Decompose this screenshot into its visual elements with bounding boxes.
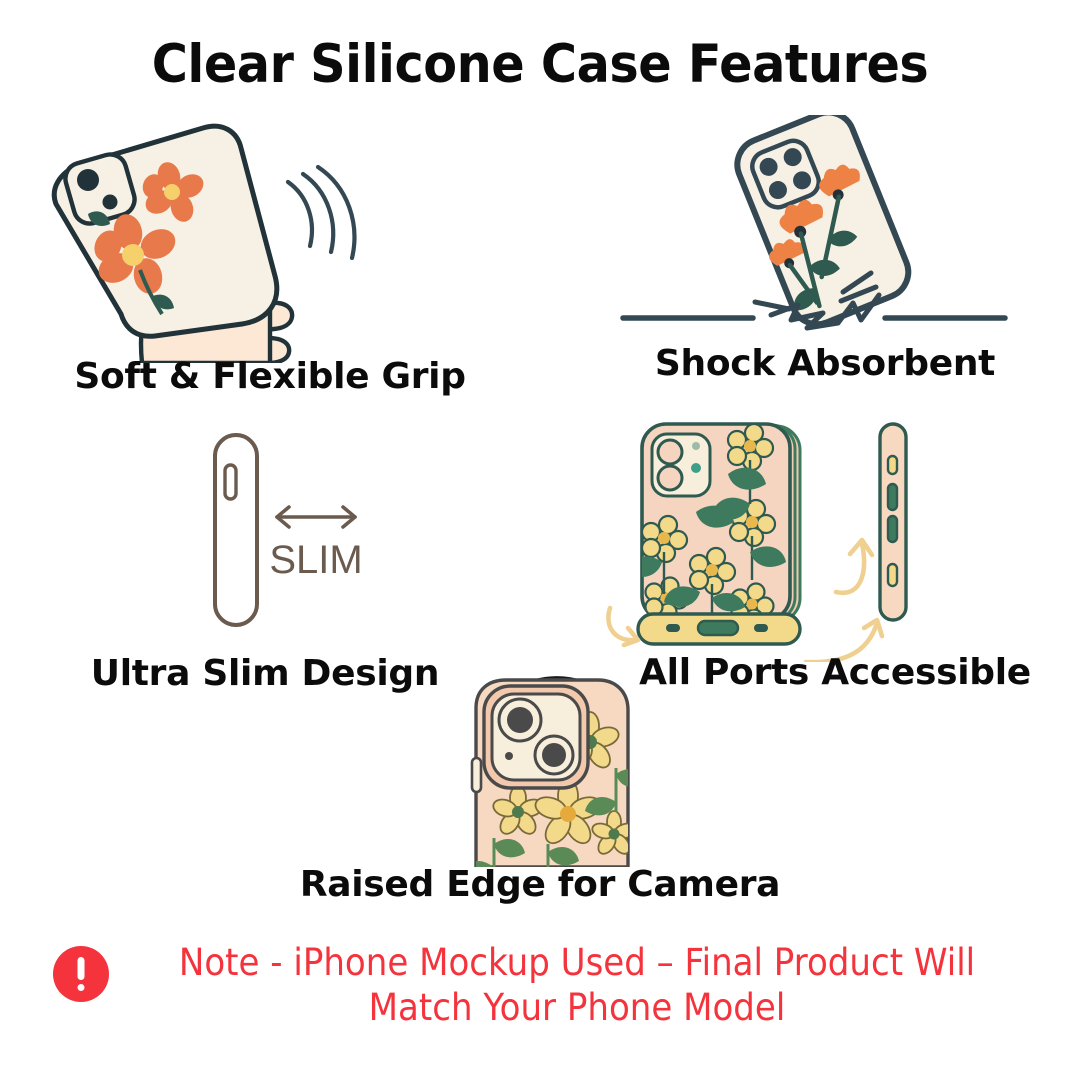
feature-label: Shock Absorbent — [585, 343, 1065, 384]
feature-infographic: Clear Silicone Case Features — [0, 0, 1080, 1080]
feature-shock-absorbent: Shock Absorbent — [585, 115, 1065, 405]
note-banner: Note - iPhone Mockup Used – Final Produc… — [0, 940, 1080, 1030]
phone-side-profile-icon: SLIM — [25, 425, 505, 640]
camera-bump — [484, 686, 588, 788]
feature-raised-edge-camera: Raised Edge for Camera — [280, 662, 800, 924]
hand-flexing-phone-case-icon — [20, 118, 520, 363]
note-text: Note - iPhone Mockup Used – Final Produc… — [163, 940, 991, 1030]
phone-raised-camera-bump-icon — [280, 662, 800, 867]
feature-label: Raised Edge for Camera — [280, 864, 800, 905]
phone-drop-impact-icon — [585, 115, 1065, 340]
phone-side-edge — [880, 424, 906, 620]
page-title: Clear Silicone Case Features — [38, 34, 1042, 95]
phone-back-side-bottom-ports-icon — [600, 412, 1070, 662]
slim-annotation-text: SLIM — [269, 538, 362, 582]
feature-label: Soft & Flexible Grip — [20, 356, 520, 397]
exclamation-badge-icon — [53, 946, 109, 1002]
phone-bottom-ports — [638, 614, 800, 644]
feature-all-ports-accessible: All Ports Accessible — [600, 412, 1070, 702]
feature-soft-flexible-grip: Soft & Flexible Grip — [20, 118, 520, 408]
